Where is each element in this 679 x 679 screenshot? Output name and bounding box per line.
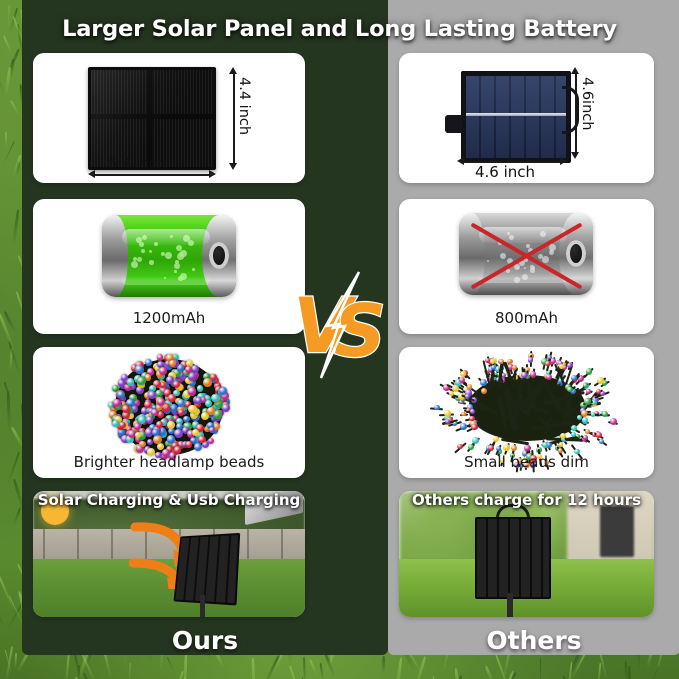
panel-port — [445, 115, 462, 133]
battery-full-green-icon — [102, 215, 236, 297]
battery-capacity-label-others: 800mAh — [399, 309, 654, 327]
card-others-battery: 800mAh — [399, 199, 654, 334]
solar-height-label-others: 4.6inch — [579, 77, 595, 130]
solar-panel-blue-icon — [461, 71, 571, 163]
led-beads-label-ours: Brighter headlamp beads — [33, 453, 305, 471]
battery-terminal — [209, 242, 229, 269]
busbar-horizontal — [466, 113, 566, 116]
battery-capacity-label-ours: 1200mAh — [33, 309, 305, 327]
led-string-tangled-icon — [451, 353, 603, 453]
led-bead-cluster-icon — [107, 353, 231, 461]
charging-label-ours: Solar Charging & Usb Charging — [33, 491, 305, 613]
battery-grey-crossed-icon — [459, 213, 593, 295]
solar-width-label-ours: 5.4 inch — [108, 156, 166, 172]
footer-label-ours: Ours — [22, 626, 388, 655]
footer-label-others: Others — [388, 626, 679, 655]
solar-cells — [466, 76, 566, 158]
charging-label-others: Others charge for 12 hours — [399, 491, 654, 613]
solar-width-label-others: 4.6 inch — [475, 163, 535, 181]
solar-panel-black-icon — [88, 67, 216, 170]
card-ours-battery: 1200mAh — [33, 199, 305, 334]
card-others-solar-panel: 4.6 inch 4.6inch — [399, 53, 654, 183]
vs-badge: V S — [285, 270, 395, 380]
cross-out-x-icon — [459, 213, 593, 295]
solar-height-label-ours: 4.4 inch — [236, 77, 252, 135]
card-ours-solar-panel: 5.4 inch 4.4 inch — [33, 53, 305, 183]
page-title: Larger Solar Panel and Long Lasting Batt… — [0, 13, 679, 45]
card-others-charging-photo: Others charge for 12 hours — [399, 491, 654, 617]
led-beads-label-others: Small beads dim — [399, 453, 654, 471]
battery-bubbles — [128, 231, 198, 283]
card-ours-charging-photo: Solar Charging & Usb Charging — [33, 491, 305, 617]
card-others-led-beads: Small beads dim — [399, 347, 654, 478]
card-ours-led-beads: Brighter headlamp beads — [33, 347, 305, 478]
panel-gloss — [91, 70, 213, 167]
